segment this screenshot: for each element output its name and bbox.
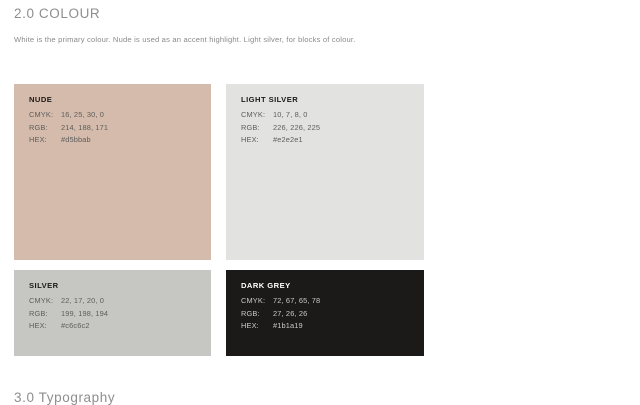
swatch-details: NUDE CMYK: 16, 25, 30, 0 RGB: 214, 188, … [29, 95, 203, 148]
swatch-spec-hex: HEX: #1b1a19 [241, 321, 416, 330]
spec-value-rgb: 214, 188, 171 [61, 123, 108, 132]
colour-swatch-silver[interactable]: SILVER CMYK: 22, 17, 20, 0 RGB: 199, 198… [14, 270, 211, 356]
swatch-spec-rgb: RGB: 199, 198, 194 [29, 309, 203, 318]
spec-value-rgb: 199, 198, 194 [61, 309, 108, 318]
spec-label-rgb: RGB: [241, 309, 273, 318]
colour-style-guide-page: 2.0 COLOUR White is the primary colour. … [0, 0, 640, 400]
spec-label-hex: HEX: [29, 321, 61, 330]
spec-label-cmyk: CMYK: [29, 296, 61, 305]
swatch-details: DARK GREY CMYK: 72, 67, 65, 78 RGB: 27, … [241, 281, 416, 334]
spec-value-hex: #d5bbab [61, 135, 91, 144]
section-description: White is the primary colour. Nude is use… [14, 35, 356, 44]
swatch-spec-hex: HEX: #d5bbab [29, 135, 203, 144]
swatch-name: NUDE [29, 95, 203, 104]
spec-value-cmyk: 10, 7, 8, 0 [273, 110, 308, 119]
colour-swatch-light-silver[interactable]: LIGHT SILVER CMYK: 10, 7, 8, 0 RGB: 226,… [226, 84, 424, 260]
swatch-spec-cmyk: CMYK: 22, 17, 20, 0 [29, 296, 203, 305]
swatch-spec-cmyk: CMYK: 10, 7, 8, 0 [241, 110, 416, 119]
spec-label-rgb: RGB: [241, 123, 273, 132]
spec-value-cmyk: 16, 25, 30, 0 [61, 110, 104, 119]
spec-label-cmyk: CMYK: [29, 110, 61, 119]
spec-label-rgb: RGB: [29, 123, 61, 132]
swatch-spec-hex: HEX: #e2e2e1 [241, 135, 416, 144]
spec-value-cmyk: 72, 67, 65, 78 [273, 296, 320, 305]
swatch-spec-rgb: RGB: 27, 26, 26 [241, 309, 416, 318]
spec-value-rgb: 226, 226, 225 [273, 123, 320, 132]
spec-value-cmyk: 22, 17, 20, 0 [61, 296, 104, 305]
next-section-heading: 3.0 Typography [14, 390, 115, 405]
spec-value-hex: #c6c6c2 [61, 321, 90, 330]
spec-label-cmyk: CMYK: [241, 296, 273, 305]
swatch-spec-hex: HEX: #c6c6c2 [29, 321, 203, 330]
spec-label-hex: HEX: [241, 135, 273, 144]
swatch-name: SILVER [29, 281, 203, 290]
spec-label-rgb: RGB: [29, 309, 61, 318]
spec-value-rgb: 27, 26, 26 [273, 309, 307, 318]
swatch-name: DARK GREY [241, 281, 416, 290]
swatch-spec-cmyk: CMYK: 72, 67, 65, 78 [241, 296, 416, 305]
swatch-details: SILVER CMYK: 22, 17, 20, 0 RGB: 199, 198… [29, 281, 203, 334]
page-title: 2.0 COLOUR [14, 6, 100, 21]
colour-swatch-dark-grey[interactable]: DARK GREY CMYK: 72, 67, 65, 78 RGB: 27, … [226, 270, 424, 356]
spec-label-hex: HEX: [29, 135, 61, 144]
swatch-details: LIGHT SILVER CMYK: 10, 7, 8, 0 RGB: 226,… [241, 95, 416, 148]
swatch-spec-cmyk: CMYK: 16, 25, 30, 0 [29, 110, 203, 119]
swatch-spec-rgb: RGB: 226, 226, 225 [241, 123, 416, 132]
swatch-spec-rgb: RGB: 214, 188, 171 [29, 123, 203, 132]
colour-swatch-nude[interactable]: NUDE CMYK: 16, 25, 30, 0 RGB: 214, 188, … [14, 84, 211, 260]
spec-value-hex: #1b1a19 [273, 321, 303, 330]
spec-label-hex: HEX: [241, 321, 273, 330]
spec-label-cmyk: CMYK: [241, 110, 273, 119]
spec-value-hex: #e2e2e1 [273, 135, 303, 144]
swatch-name: LIGHT SILVER [241, 95, 416, 104]
